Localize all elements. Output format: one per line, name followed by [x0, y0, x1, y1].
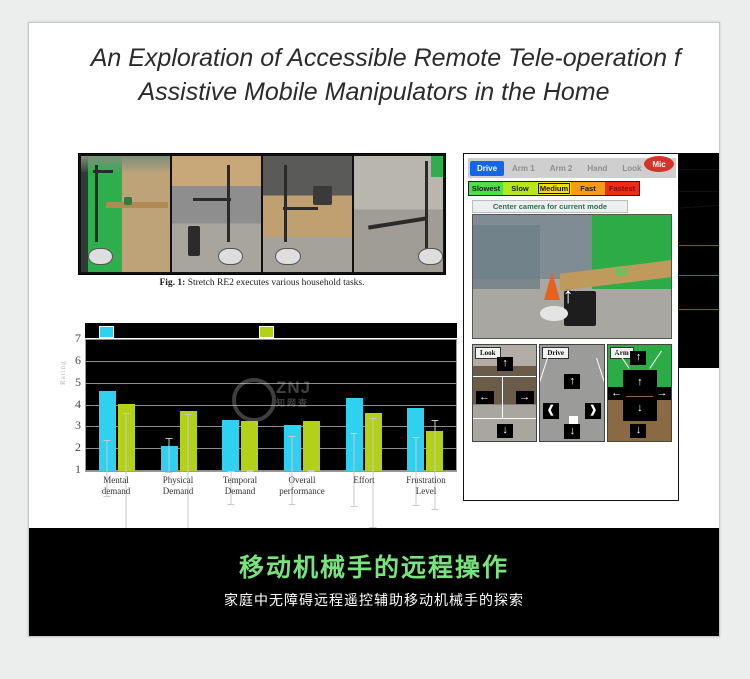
chart-bar — [118, 404, 135, 471]
chart-bar — [365, 413, 382, 471]
chart-error-bar — [188, 414, 189, 530]
chart-bar-group — [394, 340, 456, 471]
chart-x-tick: Effort — [333, 475, 395, 497]
figure-1-caption-text: Stretch RE2 executes various household t… — [188, 278, 365, 288]
chart-x-tick: Overallperformance — [271, 475, 333, 497]
chart-x-tick: TemporalDemand — [209, 475, 271, 497]
mic-button[interactable]: Mic — [644, 156, 674, 172]
paper-title: An Exploration of Accessible Remote Tele… — [29, 41, 719, 121]
chart-y-tick: 7 — [59, 331, 81, 346]
legend-swatch-series-2 — [259, 326, 274, 338]
chart-bar-groups — [86, 340, 456, 471]
chart-x-labels: MentaldemandPhysicalDemandTemporalDemand… — [85, 475, 457, 497]
center-camera-button[interactable]: Center camera for current mode — [472, 200, 628, 213]
chart-bar-group — [333, 340, 395, 471]
chart-y-tick: 1 — [59, 462, 81, 477]
banner-headline: 移动机械手的远程操作 — [29, 548, 719, 584]
chart-x-tick: FrustrationLevel — [395, 475, 457, 497]
mode-button-arm-2[interactable]: Arm 2 — [543, 161, 580, 176]
arm-retract-arrow-icon[interactable]: ↓ — [623, 397, 657, 421]
look-right-arrow-icon[interactable]: → — [516, 391, 534, 404]
chart-bar — [303, 421, 320, 471]
chart-bar — [284, 425, 301, 471]
photo-robot-arm-extended — [354, 156, 443, 272]
drive-forward-arrow-icon[interactable]: ↑ — [564, 374, 580, 389]
banner-subline: 家庭中无障碍远程遥控辅助移动机械手的探索 — [29, 590, 719, 610]
look-left-arrow-icon[interactable]: ← — [476, 391, 494, 404]
chart-bar — [426, 431, 443, 471]
drive-turn-left-arrow-icon[interactable]: ❰ — [543, 403, 559, 419]
arm-left-arrow-icon[interactable]: ← — [608, 387, 626, 400]
annotation-column — [679, 153, 719, 368]
camera-green-pot — [615, 268, 627, 276]
teleop-ui-window: DriveArm 1Arm 2HandLook Mic SlowestSlowM… — [463, 153, 679, 501]
camera-forward-arrow-icon[interactable]: ↑ — [562, 279, 574, 313]
drive-backward-arrow-icon[interactable]: ↓ — [564, 424, 580, 439]
nasa-tlx-bar-chart: Rating ZNJ 知网查 1234567 MentaldemandPhysi… — [59, 323, 459, 518]
paper-title-line-2: Assistive Mobile Manipulators in the Hom… — [138, 75, 609, 110]
photo-robot-long-table — [81, 156, 170, 272]
chart-bar — [241, 421, 258, 471]
chart-y-tick: 5 — [59, 375, 81, 390]
speed-button-bar: SlowestSlowMediumFastFastest — [468, 181, 640, 196]
chart-x-tick: PhysicalDemand — [147, 475, 209, 497]
photo-robot-dishwasher — [172, 156, 261, 272]
chart-error-bar — [169, 438, 170, 473]
mode-button-arm-1[interactable]: Arm 1 — [505, 161, 542, 176]
chart-y-tick: 2 — [59, 440, 81, 455]
chart-x-tick: Mentaldemand — [85, 475, 147, 497]
chart-bar-group — [86, 340, 148, 471]
mode-button-drive[interactable]: Drive — [470, 161, 504, 176]
chart-bar — [180, 411, 197, 471]
chart-bar — [407, 408, 424, 471]
chart-legend — [85, 323, 457, 338]
arm-down-arrow-icon[interactable]: ↓ — [630, 424, 646, 438]
document-page: An Exploration of Accessible Remote Tele… — [28, 22, 720, 637]
arm-up-arrow-icon[interactable]: ↑ — [630, 351, 646, 365]
teleoperation-interface-figure: DriveArm 1Arm 2HandLook Mic SlowestSlowM… — [463, 153, 719, 501]
control-view-drive[interactable]: Drive ↑ ❰ ❱ ↓ — [539, 344, 604, 442]
speed-button-slowest[interactable]: Slowest — [469, 182, 503, 195]
drive-turn-right-arrow-icon[interactable]: ❱ — [585, 403, 601, 419]
mode-button-hand[interactable]: Hand — [580, 161, 614, 176]
figure-1-photo-strip — [78, 153, 446, 275]
chart-plot-area: ZNJ 知网查 — [85, 339, 457, 472]
chart-bar — [346, 398, 363, 471]
chart-bar-group — [148, 340, 210, 471]
chart-y-tick: 3 — [59, 418, 81, 433]
chart-error-bar — [126, 413, 127, 530]
chart-y-tick: 6 — [59, 353, 81, 368]
camera-traffic-cone — [544, 272, 560, 300]
bottom-banner: 移动机械手的远程操作 家庭中无障碍远程遥控辅助移动机械手的探索 — [29, 528, 719, 636]
arm-extend-arrow-icon[interactable]: ↑ — [623, 370, 657, 396]
chart-bar-group — [209, 340, 271, 471]
look-up-arrow-icon[interactable]: ↑ — [497, 357, 513, 371]
speed-button-fast[interactable]: Fast — [571, 182, 605, 195]
chart-bar-group — [271, 340, 333, 471]
speed-button-slow[interactable]: Slow — [503, 182, 537, 195]
control-views-row: Look ↑ ← → ↓ Drive ↑ — [472, 344, 672, 442]
paper-title-line-1: An Exploration of Accessible Remote Tele… — [91, 41, 681, 76]
figure-1-caption-label: Fig. 1: — [159, 278, 185, 288]
chart-y-tick: 4 — [59, 397, 81, 412]
arm-right-arrow-icon[interactable]: → — [653, 387, 671, 400]
control-view-arm[interactable]: Arm ↑ ↑ ↓ ← → ↓ — [607, 344, 672, 442]
chart-bar — [161, 446, 178, 471]
chart-bar — [99, 391, 116, 471]
camera-glass-wall — [473, 225, 540, 289]
speed-button-fastest[interactable]: Fastest — [605, 182, 639, 195]
figure-1-caption: Fig. 1: Stretch RE2 executes various hou… — [78, 278, 446, 288]
chart-error-bar — [373, 418, 374, 528]
look-down-arrow-icon[interactable]: ↓ — [497, 424, 513, 438]
legend-swatch-series-1 — [99, 326, 114, 338]
chart-bar — [222, 420, 239, 471]
main-camera-feed[interactable]: ↑ — [472, 214, 672, 339]
photo-robot-counter — [263, 156, 352, 272]
speed-button-medium[interactable]: Medium — [537, 182, 571, 195]
control-view-look[interactable]: Look ↑ ← → ↓ — [472, 344, 537, 442]
